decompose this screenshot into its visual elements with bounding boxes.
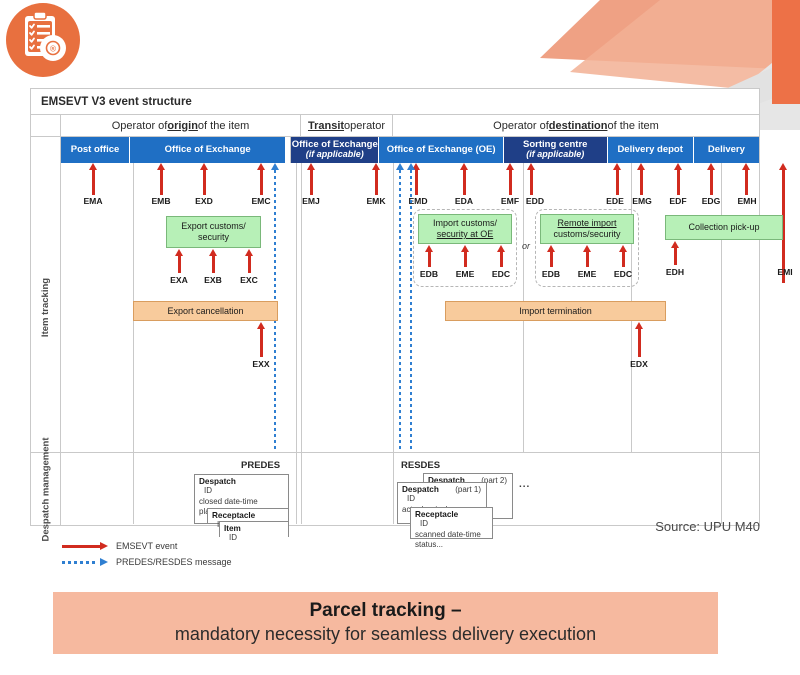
code-edf: EDF	[669, 196, 686, 206]
emsevt-diagram: EMSEVT V3 event structure Operator of or…	[30, 88, 760, 526]
blue-dotted-arrow-icon	[62, 558, 108, 567]
code-eme-oe: EME	[456, 269, 475, 279]
caption-line-1: Parcel tracking –	[309, 600, 461, 622]
col-divider-4	[393, 163, 394, 452]
code-ema: EMA	[83, 196, 102, 206]
code-edx: EDX	[630, 359, 648, 369]
code-emh: EMH	[737, 196, 756, 206]
resdes-receptacle-line-1: scanned date-time	[411, 530, 492, 541]
operator-transit-em: Transit	[308, 120, 344, 132]
export-cancellation-label: Export cancellation	[167, 306, 243, 317]
or-separator-label: or	[522, 241, 530, 251]
resdes-receptacle-card[interactable]: Receptacle ID scanned date-time status..…	[410, 507, 493, 539]
column-oe-transit-sub: (if applicable)	[306, 150, 364, 159]
predes-despatch-title: Despatch	[195, 475, 288, 486]
legend-item-predes-resdes: PREDES/RESDES message	[62, 554, 232, 570]
svg-text:®: ®	[49, 45, 57, 54]
predes-item-card[interactable]: Item ID	[219, 521, 289, 537]
resdes-receptacle-title: Receptacle	[411, 508, 492, 519]
import-customs-oe-line1: Import customs/	[433, 218, 497, 229]
remote-import-line2: customs/security	[553, 229, 620, 240]
column-sorting-centre[interactable]: Sorting centre (if applicable)	[504, 137, 608, 163]
col-divider-3	[301, 163, 302, 452]
band-gutter	[31, 115, 61, 136]
code-edb-remote: EDB	[542, 269, 560, 279]
column-office-of-exchange-destination[interactable]: Office of Exchange (OE)	[379, 137, 504, 163]
col-divider-d2	[296, 452, 297, 524]
col-divider-7	[721, 163, 722, 452]
resdes-message-line-1	[399, 163, 401, 449]
resdes-receptacle-line-2: status...	[411, 540, 492, 551]
column-post-office-label: Post office	[71, 145, 120, 155]
code-emc: EMC	[251, 196, 270, 206]
column-post-office[interactable]: Post office	[61, 137, 130, 163]
resdes-ellipsis: ...	[519, 479, 530, 490]
legend: EMSEVT event PREDES/RESDES message	[62, 538, 232, 570]
predes-item-title: Item	[220, 522, 288, 533]
operator-destination-pre: Operator of	[493, 120, 549, 132]
col-divider-d4	[393, 452, 394, 524]
predes-despatch-line-0: ID	[195, 486, 288, 497]
code-edg: EDG	[702, 196, 721, 206]
slide-caption-banner: Parcel tracking – mandatory necessity fo…	[53, 592, 718, 654]
operator-origin-post: of the item	[198, 120, 249, 132]
predes-receptacle-title: Receptacle	[208, 509, 288, 520]
code-eda: EDA	[455, 196, 473, 206]
predes-label: PREDES	[241, 460, 280, 471]
code-exc: EXC	[240, 275, 258, 285]
export-customs-line2: security	[181, 232, 246, 243]
row-label-column: Item tracking Despatch management	[31, 163, 61, 525]
column-office-of-exchange-origin[interactable]: Office of Exchange	[130, 137, 286, 163]
col-divider-2	[296, 163, 297, 452]
code-ede: EDE	[606, 196, 624, 206]
code-emk: EMK	[366, 196, 385, 206]
column-oe-origin-label: Office of Exchange	[165, 145, 251, 155]
legend-label-predes-resdes: PREDES/RESDES message	[116, 557, 232, 567]
resdes-part1-part: (part 1)	[455, 485, 481, 494]
operator-origin: Operator of origin of the item	[61, 115, 301, 136]
code-exx: EXX	[252, 359, 269, 369]
code-exb: EXB	[204, 275, 222, 285]
import-customs-oe-box[interactable]: Import customs/ security at OE	[418, 214, 512, 244]
code-edh: EDH	[666, 267, 684, 277]
column-gutter	[31, 137, 61, 163]
clipboard-checklist-seal-icon: ®	[6, 3, 80, 77]
source-note: Source: UPU M40	[600, 519, 760, 534]
column-office-of-exchange-transit[interactable]: Office of Exchange (if applicable)	[291, 137, 379, 163]
remote-import-line1: Remote import	[553, 218, 620, 229]
code-emb: EMB	[151, 196, 170, 206]
code-edb-oe: EDB	[420, 269, 438, 279]
row-label-despatch-management: Despatch management	[31, 452, 60, 525]
code-emf: EMF	[501, 196, 519, 206]
accent-bar-right	[772, 0, 800, 104]
column-sorting-centre-sub: (if applicable)	[526, 150, 584, 159]
operator-band-row: Operator of origin of the item Transit o…	[31, 115, 759, 137]
operator-transit-post: operator	[344, 120, 385, 132]
collection-pickup-label: Collection pick-up	[688, 222, 759, 233]
column-delivery-label: Delivery	[708, 145, 745, 155]
red-solid-arrow-icon	[62, 542, 108, 551]
resdes-part1-line-0: ID	[398, 494, 486, 505]
code-exd: EXD	[195, 196, 213, 206]
code-exa: EXA	[170, 275, 188, 285]
import-termination-label: Import termination	[519, 306, 592, 317]
resdes-message-line-2	[410, 163, 412, 449]
row-label-item-tracking: Item tracking	[31, 163, 60, 451]
operator-origin-em: origin	[167, 120, 198, 132]
code-emg: EMG	[632, 196, 652, 206]
brand-logo: ®	[6, 3, 80, 77]
resdes-label: RESDES	[401, 460, 440, 471]
code-edc-remote: EDC	[614, 269, 632, 279]
export-cancellation-bar[interactable]: Export cancellation	[133, 301, 278, 321]
export-customs-box[interactable]: Export customs/ security	[166, 216, 261, 248]
code-emj: EMJ	[302, 196, 320, 206]
column-header-row: Post office Office of Exchange Office of…	[31, 137, 759, 163]
resdes-receptacle-line-0: ID	[411, 519, 492, 530]
row-divider	[61, 452, 759, 453]
collection-pickup-box[interactable]: Collection pick-up	[665, 215, 783, 240]
code-emi: EMI	[777, 267, 792, 277]
import-termination-bar[interactable]: Import termination	[445, 301, 666, 321]
operator-transit: Transit operator	[301, 115, 393, 136]
col-divider-d3	[301, 452, 302, 524]
caption-line-2: mandatory necessity for seamless deliver…	[175, 624, 596, 646]
import-customs-oe-line2: security at OE	[433, 229, 497, 240]
legend-item-emsevt: EMSEVT event	[62, 538, 232, 554]
operator-origin-pre: Operator of	[112, 120, 168, 132]
col-divider-d5	[721, 452, 722, 524]
export-customs-line1: Export customs/	[181, 221, 246, 232]
diagram-canvas: EMA EMB EXD EMC EMJ EMK EMD EDA EMF EDD …	[61, 163, 759, 525]
legend-label-emsevt: EMSEVT event	[116, 541, 177, 551]
diagram-title: EMSEVT V3 event structure	[31, 89, 759, 115]
column-delivery[interactable]: Delivery	[694, 137, 759, 163]
col-divider-d1	[133, 452, 134, 524]
operator-destination-em: destination	[549, 120, 608, 132]
remote-import-customs-box[interactable]: Remote import customs/security	[540, 214, 634, 244]
code-eme-remote: EME	[578, 269, 597, 279]
column-oe-dest-label: Office of Exchange (OE)	[387, 145, 496, 155]
operator-destination-post: of the item	[607, 120, 658, 132]
column-delivery-depot[interactable]: Delivery depot	[608, 137, 694, 163]
column-delivery-depot-label: Delivery depot	[617, 145, 682, 155]
code-edd: EDD	[526, 196, 544, 206]
operator-destination: Operator of destination of the item	[393, 115, 759, 136]
predes-despatch-line-1: closed date-time	[195, 497, 288, 508]
code-edc-oe: EDC	[492, 269, 510, 279]
diagram-body: Item tracking Despatch management	[31, 163, 759, 525]
